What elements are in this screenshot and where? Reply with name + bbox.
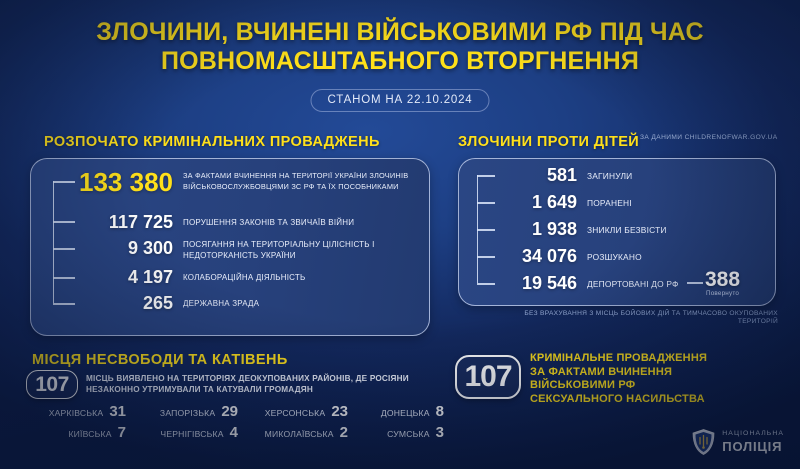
stat-value: 133 380 bbox=[61, 169, 173, 195]
region-value: 4 bbox=[230, 425, 238, 440]
region-name: СУМСЬКА bbox=[387, 429, 430, 439]
region-item: ЗАПОРІЗЬКА 29 bbox=[126, 404, 238, 419]
infographic-root: ЗЛОЧИНИ, ВЧИНЕНІ ВІЙСЬКОВИМИ РФ ПІД ЧАС … bbox=[0, 0, 800, 469]
stat-value: 1 649 bbox=[485, 193, 577, 211]
regions-row-1: ХАРКІВСЬКА 31 ЗАПОРІЗЬКА 29 ХЕРСОНСЬКА 2… bbox=[14, 404, 444, 419]
stat-row: 34 076 РОЗШУКАНО bbox=[485, 247, 769, 265]
stat-row: 1 649 ПОРАНЕНІ bbox=[485, 193, 769, 211]
stat-row: 4 197 КОЛАБОРАЦІЙНА ДІЯЛЬНІСТЬ bbox=[61, 268, 423, 286]
region-value: 23 bbox=[331, 404, 348, 419]
stat-label: ЗНИКЛИ БЕЗВІСТИ bbox=[587, 225, 757, 236]
sexual-violence-description: КРИМІНАЛЬНЕ ПРОВАДЖЕННЯ ЗА ФАКТАМИ ВЧИНЕ… bbox=[530, 352, 780, 406]
region-value: 8 bbox=[436, 404, 444, 419]
returned-caption: Повернуто bbox=[705, 290, 740, 297]
logo-wordmark: НАЦІОНАЛЬНА ПОЛІЦІЯ bbox=[722, 431, 784, 453]
region-item: ЧЕРНІГІВСЬКА 4 bbox=[126, 425, 238, 440]
card-crimes-against-children: 581 ЗАГИНУЛИ 1 649 ПОРАНЕНІ 1 938 ЗНИКЛИ… bbox=[458, 158, 776, 306]
stat-row: 1 938 ЗНИКЛИ БЕЗВІСТИ bbox=[485, 220, 769, 238]
region-name: ЧЕРНІГІВСЬКА bbox=[160, 429, 223, 439]
sexual-violence-line-2: ЗА ФАКТАМИ ВЧИНЕННЯ bbox=[530, 366, 780, 380]
regions-breakdown: ХАРКІВСЬКА 31 ЗАПОРІЗЬКА 29 ХЕРСОНСЬКА 2… bbox=[14, 404, 444, 440]
sexual-violence-badge: 107 bbox=[455, 355, 521, 399]
region-item: ДОНЕЦЬКА 8 bbox=[348, 404, 444, 419]
region-item: КИЇВСЬКА 7 bbox=[14, 425, 126, 440]
date-badge: СТАНОМ НА 22.10.2024 bbox=[311, 89, 490, 112]
stat-label: ПОРАНЕНІ bbox=[587, 198, 757, 209]
returned-value: 388 bbox=[705, 269, 740, 290]
region-item: СУМСЬКА 3 bbox=[348, 425, 444, 440]
region-item: ХАРКІВСЬКА 31 bbox=[14, 404, 126, 419]
sexual-violence-line-3: ВІЙСЬКОВИМИ РФ bbox=[530, 379, 780, 393]
title-line-1: ЗЛОЧИНИ, ВЧИНЕНІ ВІЙСЬКОВИМИ РФ ПІД ЧАС bbox=[42, 18, 758, 47]
title-line-2: ПОВНОМАСШТАБНОГО ВТОРГНЕННЯ bbox=[42, 47, 758, 76]
stat-label: ДЕРЖАВНА ЗРАДА bbox=[183, 299, 411, 310]
detention-places-description: МІСЦЬ ВИЯВЛЕНО НА ТЕРИТОРІЯХ ДЕОКУПОВАНИ… bbox=[86, 373, 436, 395]
stat-row: 9 300 ПОСЯГАННЯ НА ТЕРИТОРІАЛЬНУ ЦІЛІСНІ… bbox=[61, 239, 423, 261]
detention-places-badge: 107 bbox=[26, 370, 78, 399]
stat-value: 581 bbox=[485, 166, 577, 184]
sexual-violence-line-1: КРИМІНАЛЬНЕ ПРОВАДЖЕННЯ bbox=[530, 352, 780, 366]
stat-value: 4 197 bbox=[61, 268, 173, 286]
stat-label: ПОСЯГАННЯ НА ТЕРИТОРІАЛЬНУ ЦІЛІСНІСТЬ І … bbox=[183, 240, 411, 261]
stat-row: 581 ЗАГИНУЛИ bbox=[485, 166, 769, 184]
police-badge-icon bbox=[692, 429, 715, 455]
region-value: 29 bbox=[221, 404, 238, 419]
stat-label: РОЗШУКАНО bbox=[587, 252, 757, 263]
region-value: 2 bbox=[340, 425, 348, 440]
region-name: ЗАПОРІЗЬКА bbox=[160, 408, 215, 418]
stat-label: ПОРУШЕННЯ ЗАКОНІВ ТА ЗВИЧАЇВ ВІЙНИ bbox=[183, 218, 411, 229]
stat-row: 265 ДЕРЖАВНА ЗРАДА bbox=[61, 294, 423, 312]
national-police-logo: НАЦІОНАЛЬНА ПОЛІЦІЯ bbox=[692, 429, 784, 455]
stat-label: ЗА ФАКТАМИ ВЧИНЕННЯ НА ТЕРИТОРІЇ УКРАЇНИ… bbox=[183, 171, 411, 192]
stat-value: 19 546 bbox=[485, 274, 577, 292]
source-note: ЗА ДАНИМИ CHILDRENOFWAR.GOV.UA bbox=[640, 134, 778, 142]
region-value: 7 bbox=[118, 425, 126, 440]
stat-label: ЗАГИНУЛИ bbox=[587, 171, 757, 182]
regions-row-2: КИЇВСЬКА 7 ЧЕРНІГІВСЬКА 4 МИКОЛАЇВСЬКА 2… bbox=[14, 425, 444, 440]
section-heading-criminal-proceedings: РОЗПОЧАТО КРИМІНАЛЬНИХ ПРОВАДЖЕНЬ bbox=[44, 134, 380, 150]
region-value: 3 bbox=[436, 425, 444, 440]
page-title: ЗЛОЧИНИ, ВЧИНЕНІ ВІЙСЬКОВИМИ РФ ПІД ЧАС … bbox=[0, 18, 800, 76]
returned-children-stat: 388 Повернуто bbox=[687, 269, 740, 297]
section-heading-detention-places: МІСЦЯ НЕСВОБОДИ ТА КАТІВЕНЬ bbox=[32, 352, 288, 368]
region-name: МИКОЛАЇВСЬКА bbox=[265, 429, 334, 439]
stat-label: ДЕПОРТОВАНІ ДО РФ bbox=[587, 279, 695, 290]
region-name: ХАРКІВСЬКА bbox=[49, 408, 104, 418]
stat-value: 9 300 bbox=[61, 239, 173, 257]
stat-value: 117 725 bbox=[61, 213, 173, 231]
card-criminal-proceedings: 133 380 ЗА ФАКТАМИ ВЧИНЕННЯ НА ТЕРИТОРІЇ… bbox=[30, 158, 430, 336]
region-value: 31 bbox=[109, 404, 126, 419]
region-item: ХЕРСОНСЬКА 23 bbox=[238, 404, 348, 419]
stat-row: 117 725 ПОРУШЕННЯ ЗАКОНІВ ТА ЗВИЧАЇВ ВІЙ… bbox=[61, 213, 423, 231]
region-item: МИКОЛАЇВСЬКА 2 bbox=[238, 425, 348, 440]
children-footnote: БЕЗ ВРАХУВАННЯ З МІСЦЬ БОЙОВИХ ДІЙ ТА ТИ… bbox=[498, 310, 778, 327]
region-name: КИЇВСЬКА bbox=[68, 429, 111, 439]
logo-line-1: НАЦІОНАЛЬНА bbox=[722, 431, 784, 438]
section-heading-crimes-against-children: ЗЛОЧИНИ ПРОТИ ДІТЕЙ bbox=[458, 134, 639, 150]
bracket-connector-left bbox=[53, 181, 54, 303]
region-name: ХЕРСОНСЬКА bbox=[265, 408, 326, 418]
stat-value: 1 938 bbox=[485, 220, 577, 238]
region-name: ДОНЕЦЬКА bbox=[381, 408, 430, 418]
stat-label: КОЛАБОРАЦІЙНА ДІЯЛЬНІСТЬ bbox=[183, 273, 411, 284]
connector-line bbox=[687, 282, 703, 284]
stat-row: 133 380 ЗА ФАКТАМИ ВЧИНЕННЯ НА ТЕРИТОРІЇ… bbox=[61, 169, 423, 195]
stat-value: 34 076 bbox=[485, 247, 577, 265]
sexual-violence-line-4: СЕКСУАЛЬНОГО НАСИЛЬСТВА bbox=[530, 393, 780, 407]
stat-value: 265 bbox=[61, 294, 173, 312]
logo-line-2: ПОЛІЦІЯ bbox=[722, 440, 784, 453]
